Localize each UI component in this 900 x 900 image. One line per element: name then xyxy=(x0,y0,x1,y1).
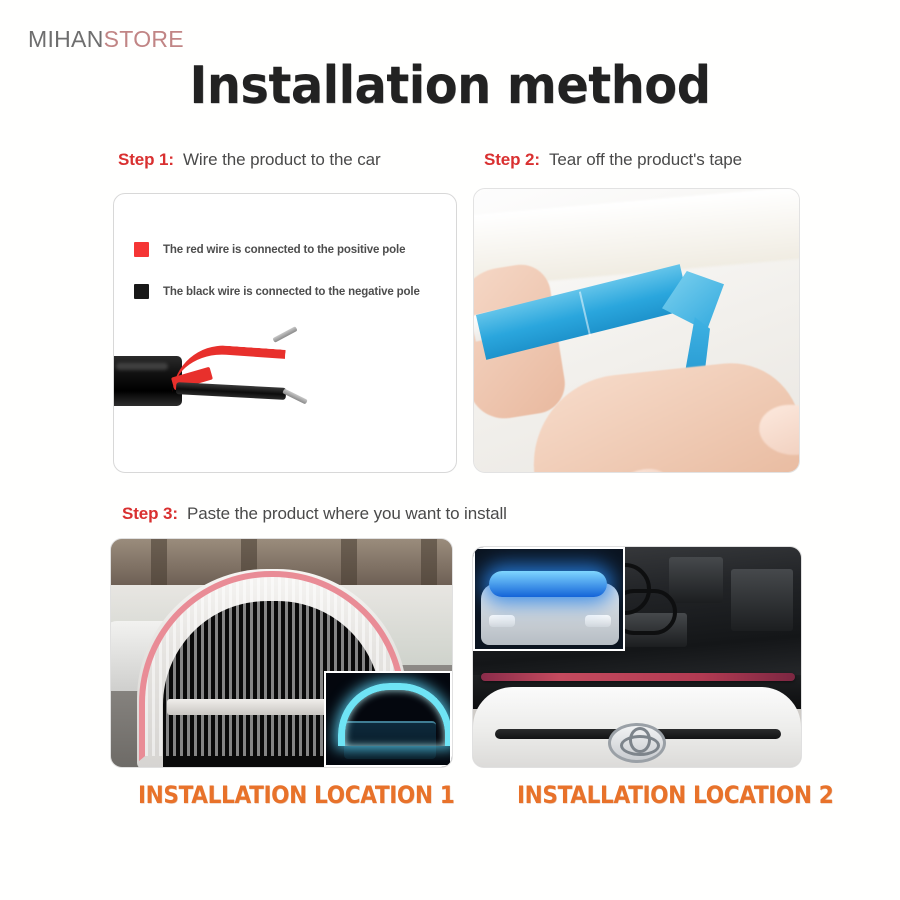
installation-location-2-photo xyxy=(473,547,801,767)
legend-row-positive: The red wire is connected to the positiv… xyxy=(134,242,434,257)
step-1-instruction: Wire the product to the car xyxy=(183,150,381,169)
fingernail xyxy=(603,460,676,473)
night-preview-inset-1 xyxy=(324,671,452,767)
legend-text-positive: The red wire is connected to the positiv… xyxy=(163,244,405,256)
ceiling-beam xyxy=(341,539,357,585)
inset-blue-led-glow xyxy=(489,571,607,597)
led-strip-installed xyxy=(481,673,795,681)
step-1-number: Step 1: xyxy=(118,150,174,169)
caption-installation-location-1: INSTALLATION LOCATION 1 xyxy=(138,781,454,809)
legend-row-negative: The black wire is connected to the negat… xyxy=(134,284,434,299)
caption-installation-location-2: INSTALLATION LOCATION 2 xyxy=(517,781,833,809)
inset-blue-led-glow xyxy=(338,683,452,746)
toyota-emblem-icon xyxy=(608,723,666,763)
ceiling-beam xyxy=(151,539,167,585)
brand-logo: MIHANSTORE xyxy=(28,26,184,53)
tape-photo xyxy=(474,189,799,472)
installation-location-1-photo xyxy=(111,539,452,767)
emblem-vertical-oval xyxy=(629,727,651,753)
ceiling-beam xyxy=(421,539,437,585)
black-wire-stripped-tip xyxy=(282,389,308,405)
legend-text-negative: The black wire is connected to the negat… xyxy=(163,286,420,298)
step-3-header: Step 3:Paste the product where you want … xyxy=(122,504,507,524)
step-3-number: Step 3: xyxy=(122,504,178,523)
inset-headlight xyxy=(585,615,611,627)
step-1-header: Step 1:Wire the product to the car xyxy=(118,150,381,170)
tape-photo-panel xyxy=(473,188,800,473)
red-wire-stripped-tip xyxy=(272,326,297,343)
installation-location-2-panel xyxy=(472,546,802,768)
step-2-instruction: Tear off the product's tape xyxy=(549,150,742,169)
engine-component xyxy=(731,569,793,631)
step-2-header: Step 2:Tear off the product's tape xyxy=(484,150,742,170)
brand-name-secondary: STORE xyxy=(104,26,184,52)
step-2-number: Step 2: xyxy=(484,150,540,169)
installation-location-1-panel xyxy=(110,538,453,768)
front-bumper xyxy=(473,687,801,767)
page-title: Installation method xyxy=(36,57,864,115)
night-preview-inset-2 xyxy=(473,547,625,651)
wire-legend: The red wire is connected to the positiv… xyxy=(134,242,434,326)
fingernail xyxy=(757,402,800,459)
brand-name-primary: MIHAN xyxy=(28,26,104,52)
engine-component xyxy=(669,557,723,603)
black-swatch-icon xyxy=(134,284,149,299)
wire-photo xyxy=(114,316,457,446)
wire-diagram-panel: The red wire is connected to the positiv… xyxy=(113,193,457,473)
step-3-instruction: Paste the product where you want to inst… xyxy=(187,504,507,523)
red-swatch-icon xyxy=(134,242,149,257)
inset-headlight xyxy=(489,615,515,627)
